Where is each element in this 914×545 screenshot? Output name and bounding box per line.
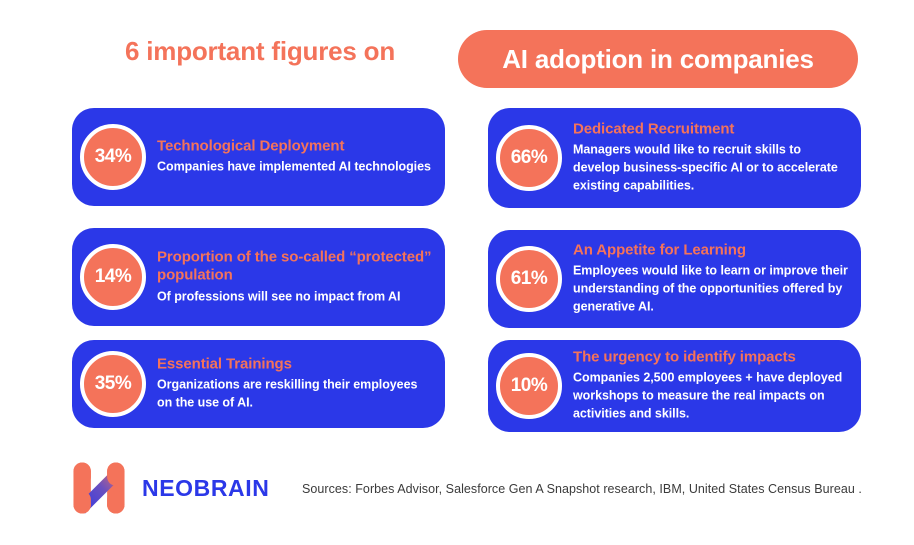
stat-card-body: Essential Trainings Organizations are re… [157, 356, 433, 413]
page-title: 6 important figures on [70, 36, 450, 67]
stat-card-body: The urgency to identify impacts Companie… [573, 349, 849, 424]
stat-card: 61% An Appetite for Learning Employees w… [488, 230, 861, 328]
brand-logo: NEOBRAIN [70, 459, 269, 517]
stat-card-heading: Dedicated Recruitment [573, 121, 849, 139]
infographic-header: 6 important figures on AI adoption in co… [0, 26, 914, 92]
title-badge-label: AI adoption in companies [502, 44, 814, 75]
stat-card-description: Organizations are reskilling their emplo… [157, 377, 433, 413]
stat-card: 10% The urgency to identify impacts Comp… [488, 340, 861, 432]
stat-card-heading: Essential Trainings [157, 356, 433, 374]
title-badge: AI adoption in companies [458, 30, 858, 88]
stat-card-heading: An Appetite for Learning [573, 242, 849, 260]
stat-card: 35% Essential Trainings Organizations ar… [72, 340, 445, 428]
percent-value: 66% [511, 147, 548, 169]
stat-card: 14% Proportion of the so-called “protect… [72, 228, 445, 326]
stat-card-body: Proportion of the so-called “protected” … [157, 248, 433, 305]
percent-value: 61% [511, 268, 548, 290]
percent-badge: 35% [80, 351, 146, 417]
stat-card-heading: Technological Deployment [157, 137, 433, 155]
sources-note: Sources: Forbes Advisor, Salesforce Gen … [302, 482, 862, 496]
stat-card-description: Managers would like to recruit skills to… [573, 142, 849, 195]
stat-card-body: Dedicated Recruitment Managers would lik… [573, 121, 849, 196]
stat-card-description: Companies 2,500 employees + have deploye… [573, 370, 849, 423]
percent-badge: 61% [496, 246, 562, 312]
percent-badge: 34% [80, 124, 146, 190]
stat-card-heading: The urgency to identify impacts [573, 349, 849, 367]
percent-badge: 14% [80, 244, 146, 310]
percent-value: 14% [95, 266, 132, 288]
stat-card-description: Employees would like to learn or improve… [573, 263, 849, 316]
percent-value: 35% [95, 373, 132, 395]
percent-value: 10% [511, 375, 548, 397]
stat-card-body: An Appetite for Learning Employees would… [573, 242, 849, 317]
stat-card-heading: Proportion of the so-called “protected” … [157, 248, 433, 285]
stat-card-description: Companies have implemented AI technologi… [157, 159, 433, 177]
stat-card: 66% Dedicated Recruitment Managers would… [488, 108, 861, 208]
percent-badge: 66% [496, 125, 562, 191]
stat-card-description: Of professions will see no impact from A… [157, 288, 433, 306]
percent-value: 34% [95, 146, 132, 168]
stat-card: 34% Technological Deployment Companies h… [72, 108, 445, 206]
stat-card-body: Technological Deployment Companies have … [157, 137, 433, 176]
brand-name: NEOBRAIN [142, 475, 269, 502]
infographic-footer: NEOBRAIN Sources: Forbes Advisor, Salesf… [0, 455, 914, 525]
neobrain-n-monogram-icon [70, 459, 128, 517]
percent-badge: 10% [496, 353, 562, 419]
